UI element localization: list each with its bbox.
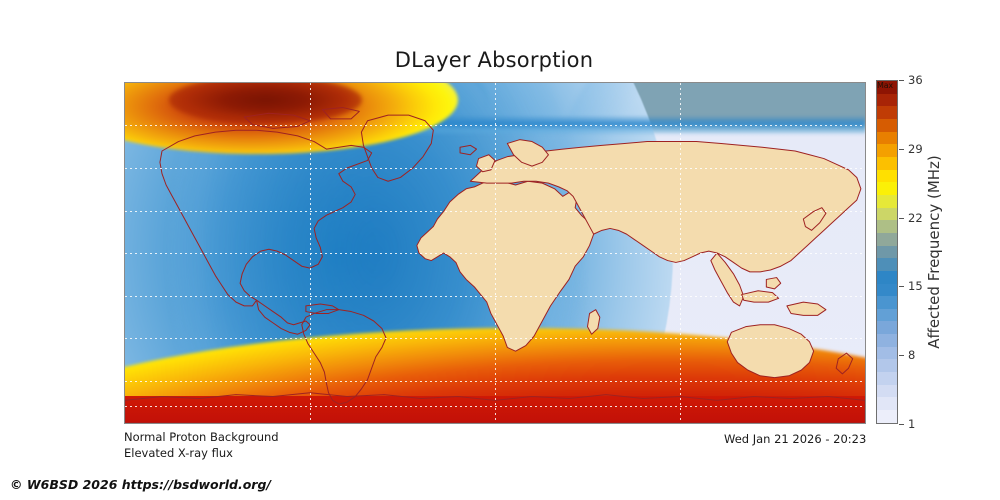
colorbar-band [877,347,897,360]
colorbar-axis-label: Affected Frequency (MHz) [925,82,943,422]
dlayer-absorption-figure: DLayer Absorption [0,0,1000,500]
annotation-xray-flux: Elevated X-ray flux [124,446,233,460]
colorbar-band [877,208,897,221]
colorbar-band [877,144,897,157]
copyright-credit: © W6BSD 2026 https://bsdworld.org/ [10,477,271,492]
colorbar-tick-label: 1 [908,417,915,431]
colorbar-tick [899,424,904,425]
colorbar-band [877,334,897,347]
colorbar-band [877,385,897,398]
colorbar-band [877,321,897,334]
colorbar-band [877,284,897,297]
colorbar-band [877,94,897,107]
colorbar-tick [899,149,904,150]
world-map-plot[interactable] [124,82,866,424]
colorbar-max-label: Max [877,81,893,90]
timestamp: Wed Jan 21 2026 - 20:23 [724,432,866,446]
colorbar-band [877,296,897,309]
colorbar-tick [899,80,904,81]
colorbar-band [877,170,897,183]
colorbar-band [877,106,897,119]
colorbar-tick [899,286,904,287]
colorbar-band [877,220,897,233]
colorbar-band [877,132,897,145]
colorbar-band [877,246,897,259]
colorbar-band [877,372,897,385]
colorbar-band [877,195,897,208]
colorbar-band [877,233,897,246]
annotation-proton-background: Normal Proton Background [124,430,279,444]
colorbar-band [877,410,897,423]
colorbar[interactable]: Max [876,80,898,424]
colorbar-tick-label: 29 [908,142,923,156]
colorbar-band [877,309,897,322]
colorbar-tick-label: 36 [908,73,923,87]
colorbar-band [877,182,897,195]
colorbar-gradient [876,80,898,424]
colorbar-tick [899,218,904,219]
colorbar-band [877,119,897,132]
coastlines [125,83,865,423]
colorbar-band [877,359,897,372]
colorbar-tick-label: 15 [908,279,923,293]
colorbar-band [877,397,897,410]
colorbar-tick [899,355,904,356]
colorbar-band [877,271,897,284]
colorbar-tick-label: 22 [908,211,923,225]
colorbar-band [877,157,897,170]
page-title: DLayer Absorption [0,48,988,72]
colorbar-band [877,258,897,271]
colorbar-tick-label: 8 [908,348,915,362]
